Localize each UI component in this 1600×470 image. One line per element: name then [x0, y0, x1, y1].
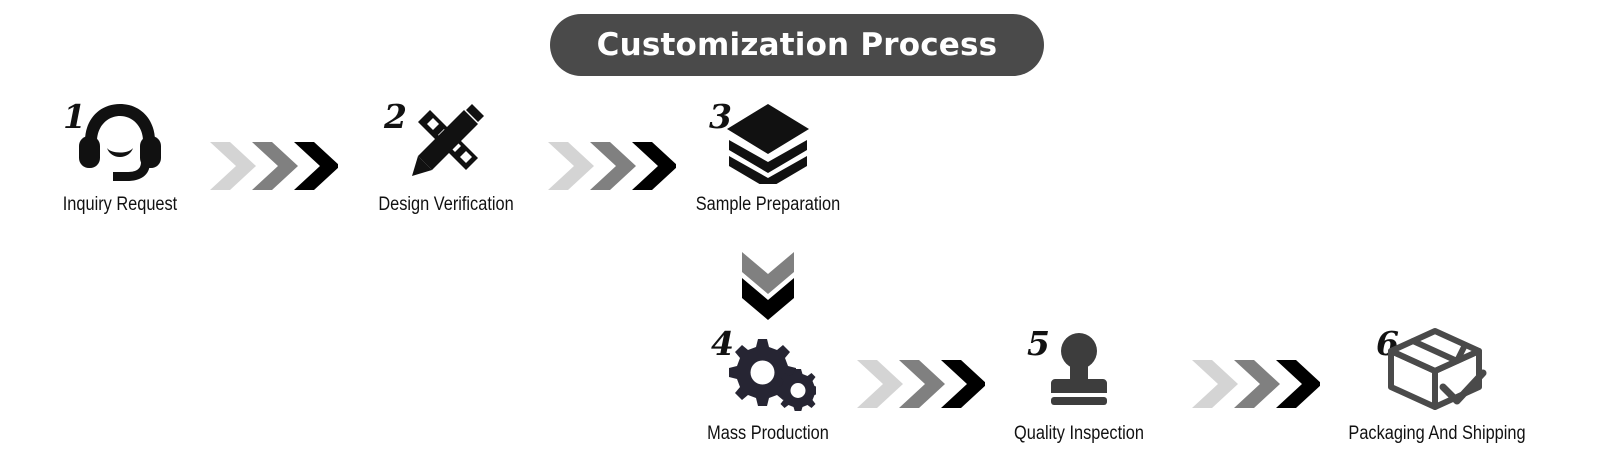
step-6-packaging-and-shipping: 6 Packaging And Shipping	[1332, 325, 1542, 445]
step-5-quality-inspection: 5 Quality Inspection	[974, 325, 1184, 445]
headset-icon	[71, 96, 169, 186]
arrow-step1-to-step2	[208, 140, 338, 192]
step-3-label: Sample Preparation	[678, 194, 859, 216]
step-1-inquiry-request: 1 Inquiry Request	[15, 96, 225, 216]
step-4-mass-production: 4 Mass Production	[663, 325, 873, 445]
step-6-icon-wrap: 6	[1332, 325, 1542, 415]
arrow-step4-to-step5	[855, 358, 985, 410]
box-check-icon	[1383, 325, 1491, 411]
step-4-icon-wrap: 4	[663, 325, 873, 415]
step-1-icon-wrap: 1	[15, 96, 225, 186]
step-2-design-verification: 2 Design Verific	[341, 96, 551, 216]
layers-stack-icon	[725, 96, 811, 184]
arrow-step3-to-step4	[740, 250, 796, 322]
ruler-pencil-icon	[400, 96, 492, 186]
step-4-label: Mass Production	[678, 423, 859, 445]
infographic-canvas: Customization Process 1 Inquiry Request	[0, 0, 1600, 470]
step-2-label: Design Verification	[356, 194, 537, 216]
step-1-label: Inquiry Request	[30, 194, 211, 216]
step-2-icon-wrap: 2	[341, 96, 551, 186]
step-6-label: Packaging And Shipping	[1347, 423, 1528, 445]
step-3-icon-wrap: 3	[663, 96, 873, 186]
rubber-stamp-icon	[1039, 325, 1119, 409]
arrow-step5-to-step6	[1190, 358, 1320, 410]
step-5-icon-wrap: 5	[974, 325, 1184, 415]
arrow-step2-to-step3	[546, 140, 676, 192]
title-banner: Customization Process	[550, 14, 1044, 76]
step-5-label: Quality Inspection	[989, 423, 1170, 445]
page-title: Customization Process	[597, 27, 998, 63]
step-3-sample-preparation: 3 Sample Preparation	[663, 96, 873, 216]
gears-icon	[720, 325, 816, 411]
